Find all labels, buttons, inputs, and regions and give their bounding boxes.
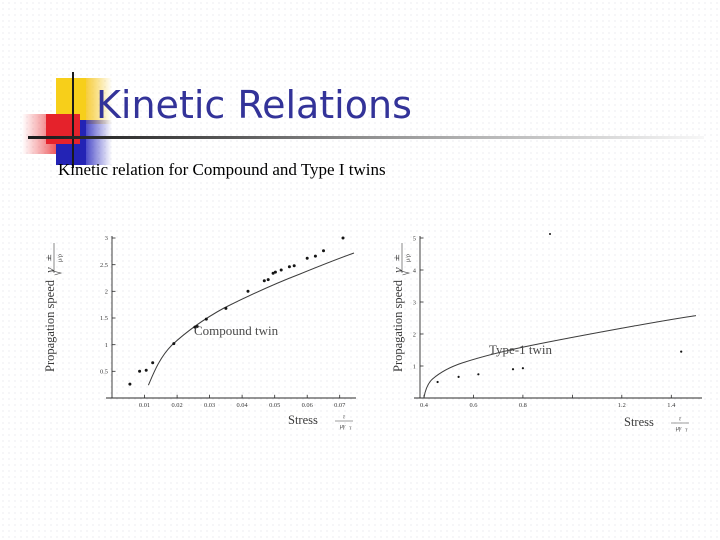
x-axis-fraction-subscript: T xyxy=(349,425,352,430)
x-axis-fraction-subscript: T xyxy=(685,427,688,432)
x-tick-label: 0.03 xyxy=(204,402,215,409)
subtitle-text: Kinetic relation for Compound and Type I… xyxy=(58,160,386,180)
slide-canvas: Kinetic Relations Kinetic relation for C… xyxy=(0,0,720,540)
y-axis-fraction-numerator: ṽ xyxy=(395,256,401,259)
y-axis-label-word: Propagation speed xyxy=(43,279,57,372)
logo-vertical-line xyxy=(72,72,74,168)
y-axis-fraction-denominator: μ/ρ xyxy=(58,254,64,262)
curve-annotation-type1: Type-1 twin xyxy=(489,342,552,357)
x-tick-label: 0.4 xyxy=(420,402,429,409)
x-tick-label: 1.2 xyxy=(618,402,626,409)
y-axis-fraction-numerator: ṽ xyxy=(47,256,53,259)
x-axis-fraction-denominator: μγ xyxy=(676,426,682,432)
y-axis-fraction-denominator: μ/ρ xyxy=(406,254,412,262)
y-tick-label: 5 xyxy=(413,235,416,242)
x-tick-label: 0.8 xyxy=(519,402,527,409)
y-tick-label: 1 xyxy=(413,363,416,370)
curve-annotation-compound: Compound twin xyxy=(194,323,279,338)
x-ticks-compound: 0.01 0.02 0.03 0.04 0.05 0.06 0.07 xyxy=(139,395,346,409)
x-axis-label-fraction-type1: τ μγ T xyxy=(671,417,689,433)
x-ticks-type1: 0.4 0.6 0.8 1.2 1.4 xyxy=(420,395,676,409)
x-axis-fraction-numerator: τ xyxy=(679,417,682,423)
x-axis-label-compound: Stress xyxy=(288,413,318,427)
x-tick-label: 1.4 xyxy=(667,402,676,409)
y-tick-label: 2 xyxy=(413,331,416,338)
y-tick-label: 0.5 xyxy=(100,369,108,376)
y-tick-label: 3 xyxy=(413,299,416,306)
x-tick-label: 0.04 xyxy=(237,402,249,409)
y-tick-label: 2.5 xyxy=(100,262,108,269)
x-tick-label: 0.6 xyxy=(470,402,478,409)
data-points-type1 xyxy=(437,233,683,383)
y-axis-label-var: v xyxy=(43,267,57,273)
logo-square-red-core xyxy=(46,114,80,144)
x-axis-fraction-numerator: τ xyxy=(343,415,346,421)
fit-curve-type1 xyxy=(424,316,696,398)
x-axis-label-type1: Stress xyxy=(624,415,654,429)
y-axis-label-var: v xyxy=(391,267,405,273)
chart-type1-twin: Propagation speed v = ṽ μ/ρ xyxy=(384,222,709,437)
x-tick-label: 0.06 xyxy=(302,402,313,409)
x-tick-label: 0.07 xyxy=(334,402,346,409)
y-axis-label-word: Propagation speed xyxy=(391,279,405,372)
y-tick-label: 2 xyxy=(105,289,108,296)
figure-compound-twin: Propagation speed v = ṽ μ/ρ xyxy=(34,222,364,437)
x-tick-label: 0.02 xyxy=(172,402,183,409)
y-tick-label: 4 xyxy=(413,267,417,274)
x-tick-label: 0.05 xyxy=(269,402,280,409)
page-title: Kinetic Relations xyxy=(96,82,412,128)
y-ticks-compound: 0.5 1 1.5 2 2.5 3 xyxy=(100,235,116,375)
x-axis-fraction-denominator: μγ xyxy=(340,424,346,430)
data-points-compound xyxy=(128,237,344,386)
y-tick-label: 1 xyxy=(105,342,108,349)
figure-type1-twin: Propagation speed v = ṽ μ/ρ xyxy=(384,222,709,437)
y-tick-label: 1.5 xyxy=(100,315,108,322)
y-tick-label: 3 xyxy=(105,235,108,242)
chart-compound-twin: Propagation speed v = ṽ μ/ρ xyxy=(34,222,364,437)
x-tick-label: 0.01 xyxy=(139,402,150,409)
x-axis-label-fraction-compound: τ μγ T xyxy=(335,415,353,431)
fit-curve-compound xyxy=(148,253,354,385)
y-ticks-type1: 1 2 3 4 5 xyxy=(413,235,424,370)
title-divider xyxy=(28,136,704,139)
